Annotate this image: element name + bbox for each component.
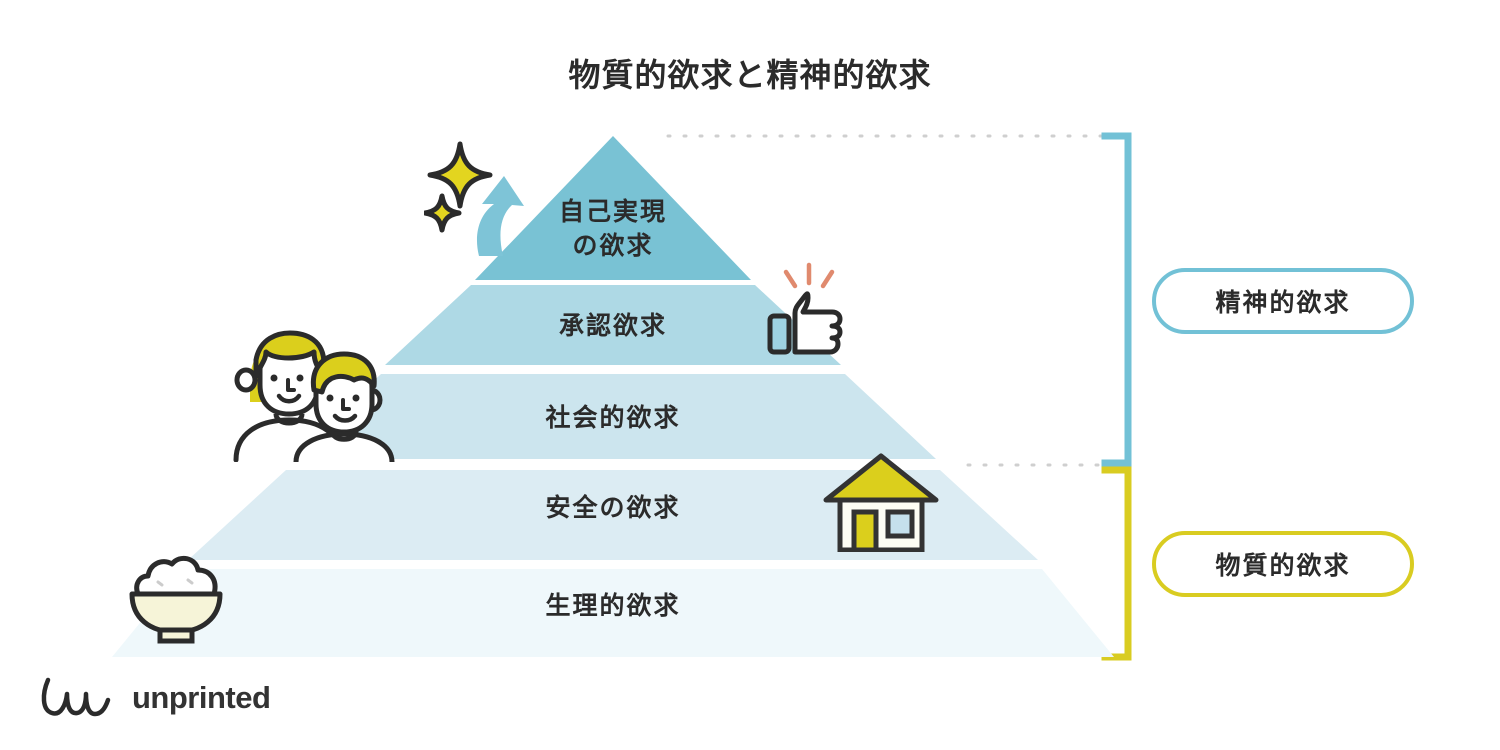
- pyramid-tier-physiological[interactable]: [112, 569, 1114, 657]
- sparkle-large-shape: [430, 144, 490, 206]
- rice-mound-shape: [137, 558, 215, 594]
- house-roof-shape: [826, 456, 936, 500]
- sparkle-arrow-icon: [424, 140, 534, 258]
- thumbs-up-sparks: [786, 265, 832, 286]
- brand-logo[interactable]: unprinted: [40, 672, 270, 724]
- group-pill-spiritual[interactable]: 精神的欲求: [1152, 268, 1414, 334]
- thumbs-up-icon: [762, 256, 854, 356]
- logo-mark-icon: [40, 672, 120, 724]
- logo-text: unprinted: [132, 680, 270, 716]
- rice-bowl-icon: [124, 548, 228, 644]
- sparkle-small-shape: [425, 196, 459, 230]
- group-pill-material-label: 物質的欲求: [1215, 546, 1350, 582]
- people-icon: [226, 330, 398, 462]
- thumbs-up-cuff-shape: [770, 316, 789, 352]
- group-pill-spiritual-label: 精神的欲求: [1215, 283, 1350, 319]
- thumbs-up-hand-shape: [795, 294, 840, 352]
- bowl-foot-shape: [160, 630, 192, 641]
- up-arrow-shape: [477, 176, 524, 256]
- house-window-shape: [888, 512, 912, 536]
- house-door-shape: [854, 512, 876, 550]
- bowl-shape: [132, 594, 220, 632]
- house-icon: [822, 448, 940, 552]
- infographic-canvas: 物質的欲求と精神的欲求 自己実現 の欲求 承認欲求 社会的欲求 安全の欲求 生理…: [0, 0, 1500, 750]
- group-pill-material[interactable]: 物質的欲求: [1152, 531, 1414, 597]
